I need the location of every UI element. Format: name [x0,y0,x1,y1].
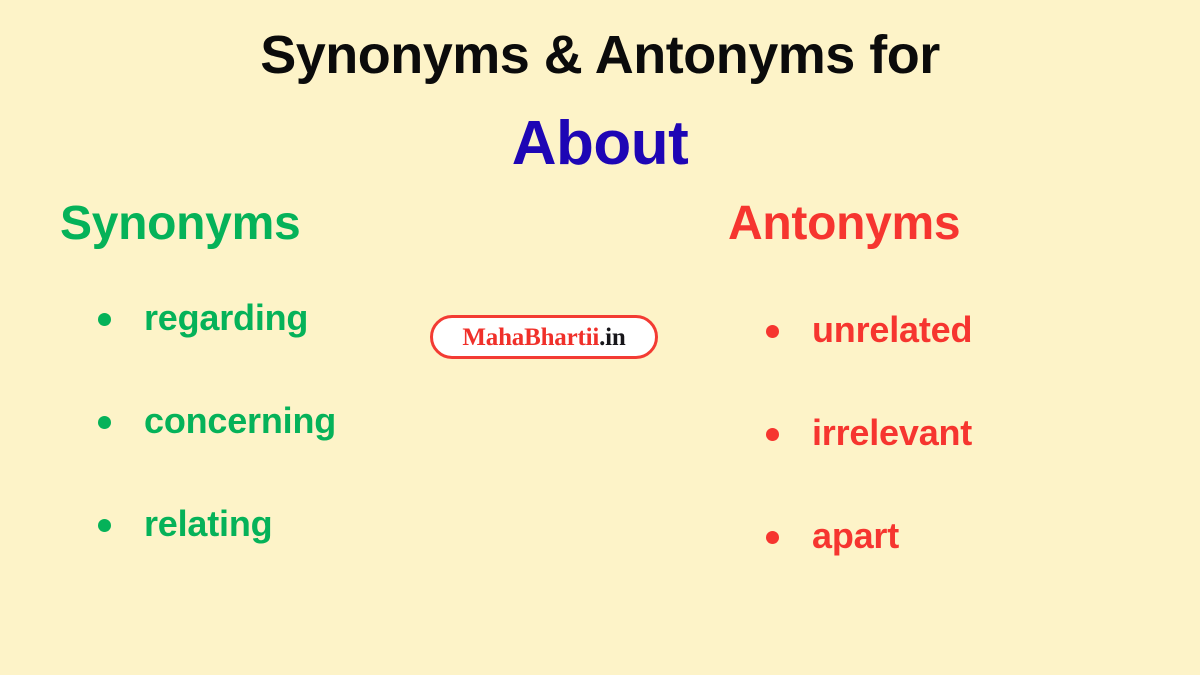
bullet-dot-icon [98,416,111,429]
list-item: concerning [32,397,592,500]
synonym-label: regarding [144,297,308,338]
bullet-dot-icon [98,519,111,532]
bullet-dot-icon [766,531,779,544]
bullet-dot-icon [98,313,111,326]
list-item: irrelevant [700,409,1200,512]
list-item: unrelated [700,306,1200,409]
bullet-dot-icon [766,428,779,441]
site-watermark-badge: MahaBhartii.in [430,315,658,359]
page-title: Synonyms & Antonyms for [0,24,1200,86]
synonyms-heading: Synonyms [32,196,592,251]
watermark-text: MahaBhartii.in [462,325,625,350]
watermark-site-name: MahaBhartii [462,324,599,351]
antonyms-column: Antonyms unrelated irrelevant apart [700,196,1200,666]
headword: About [0,108,1200,179]
poster-canvas: Synonyms & Antonyms for About Synonyms r… [0,0,1200,675]
antonyms-heading: Antonyms [700,196,1200,251]
bullet-dot-icon [766,325,779,338]
synonym-label: relating [144,503,272,544]
antonyms-list: unrelated irrelevant apart [700,306,1200,615]
list-item: relating [32,500,592,603]
antonym-label: unrelated [812,309,972,350]
antonym-label: apart [812,515,899,556]
antonym-label: irrelevant [812,412,972,453]
synonyms-column: Synonyms regarding concerning relating [32,196,592,666]
list-item: apart [700,512,1200,615]
watermark-tld: .in [599,324,626,351]
word-columns: Synonyms regarding concerning relating A… [0,196,1200,666]
synonym-label: concerning [144,400,336,441]
